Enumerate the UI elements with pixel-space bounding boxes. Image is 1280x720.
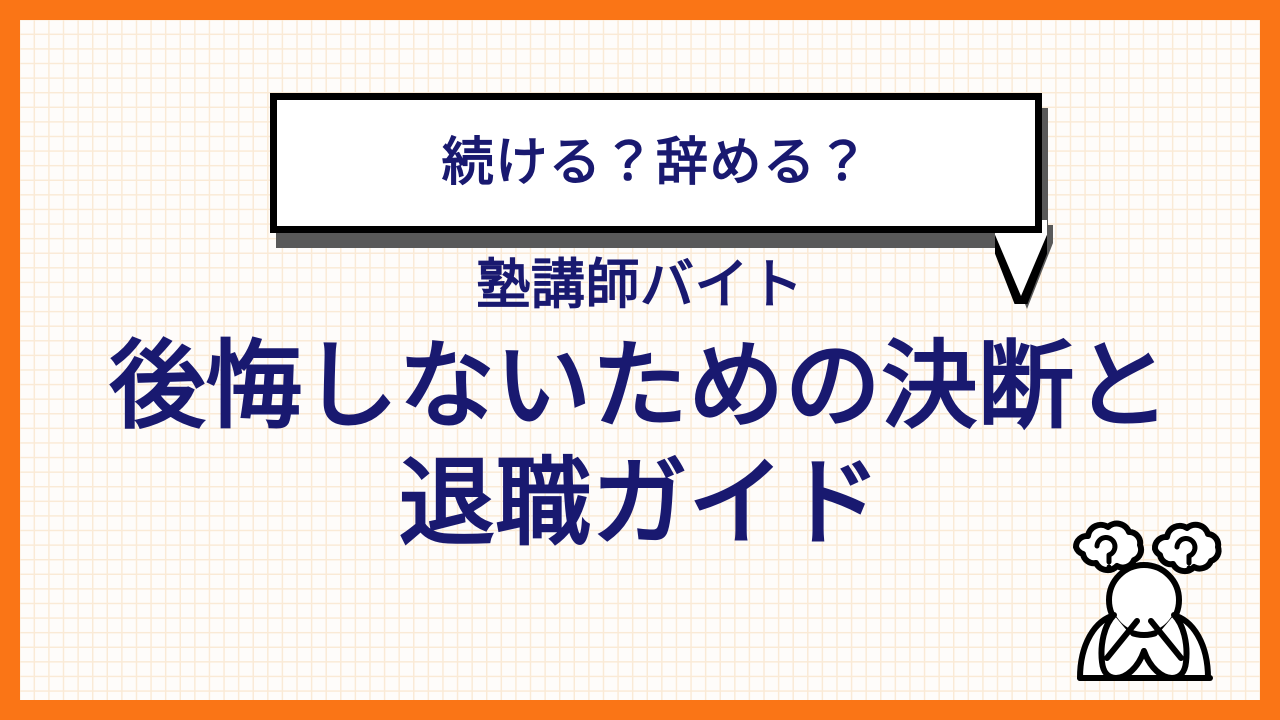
grid-paper-background: 続ける？辞める？ 塾講師バイト 後悔しないための決断と 退職ガイド xyxy=(20,20,1260,700)
speech-balloon-text: 続ける？辞める？ xyxy=(442,137,870,189)
speech-balloon-box: 続ける？辞める？ xyxy=(270,93,1042,233)
headline-kicker: 塾講師バイト xyxy=(20,256,1260,314)
headline-title-line-1: 後悔しないための決断と xyxy=(20,328,1260,445)
worried-person-icon xyxy=(1050,515,1240,690)
thumbnail-canvas: 続ける？辞める？ 塾講師バイト 後悔しないための決断と 退職ガイド xyxy=(0,0,1280,720)
